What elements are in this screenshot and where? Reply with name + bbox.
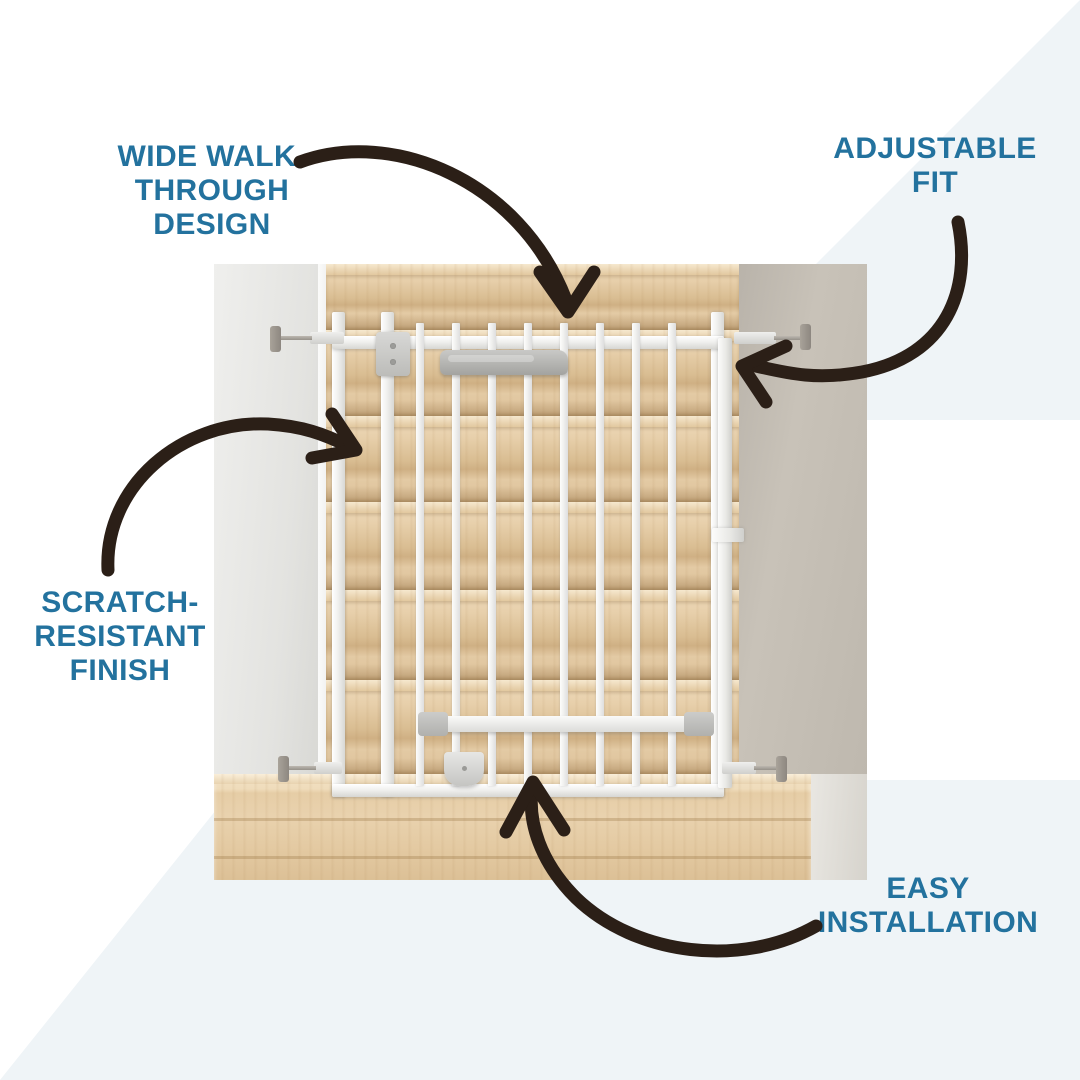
gate-bottom-bar-cap-left	[418, 712, 448, 736]
wall-mount-cup-bottom-right	[776, 756, 787, 782]
gate-bottom-bar	[428, 716, 710, 732]
wall-mount-rod-left	[280, 336, 312, 340]
product-photo	[214, 264, 867, 880]
wall-mount-sleeve-left	[310, 332, 344, 344]
feature-label-adjustable-fit: ADJUSTABLE FIT	[806, 132, 1064, 200]
wall-mount-cup-right	[800, 324, 811, 350]
feature-label-scratch-resistant-finish: SCRATCH- RESISTANT FINISH	[10, 586, 230, 689]
infographic-canvas: WIDE WALK- THROUGH DESIGN ADJUSTABLE FIT…	[0, 0, 1080, 1080]
gate-extension-panel	[718, 338, 732, 788]
gate-frame-left	[332, 312, 345, 797]
gate-frame-inner-left	[381, 312, 394, 797]
photo-baseboard-right	[811, 774, 867, 880]
feature-label-wide-walk-through-design: WIDE WALK- THROUGH DESIGN	[82, 140, 342, 243]
feature-label-easy-installation: EASY INSTALLATION	[800, 872, 1056, 940]
wall-mount-cup-bottom-left	[278, 756, 289, 782]
gate-handle	[440, 350, 568, 375]
wall-mount-sleeve-bottom-left	[314, 762, 342, 774]
safety-gate	[332, 312, 724, 797]
wall-mount-cup-left	[270, 326, 281, 352]
wall-mount-sleeve-right	[734, 332, 776, 344]
gate-extension-bracket	[712, 528, 744, 542]
wall-mount-rod-bottom-left	[288, 766, 316, 770]
gate-latch-foot	[444, 752, 484, 786]
gate-bottom-bar-cap-right	[684, 712, 714, 736]
wall-mount-sleeve-bottom-right	[722, 762, 756, 774]
gate-hinge-block	[376, 332, 410, 376]
